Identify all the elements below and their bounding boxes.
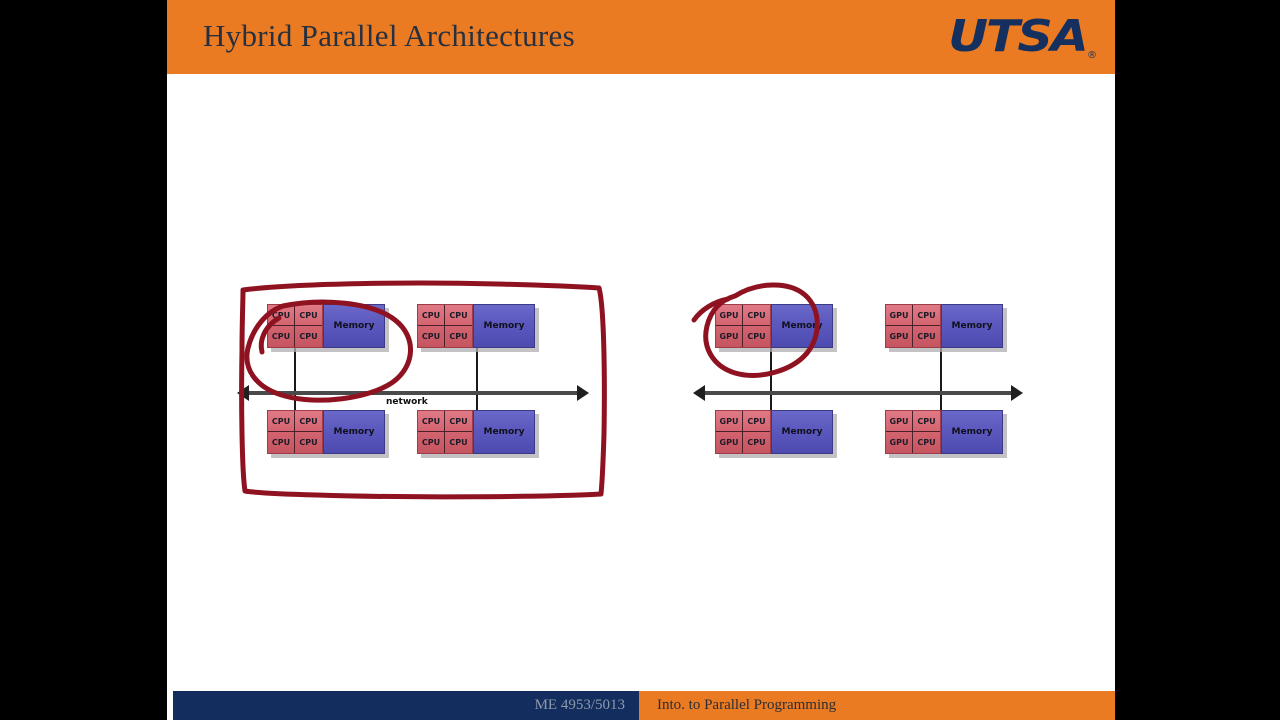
screen: Hybrid Parallel Architectures UTSA ® net… — [0, 0, 1280, 720]
gpu-cluster-diagram: GPU CPU GPU CPU Memory GPU CPU — [695, 304, 1055, 454]
gpu-quad: GPU CPU GPU CPU — [715, 410, 771, 454]
core-cell: GPU — [886, 305, 913, 326]
cpu-node-top-left: CPU CPU CPU CPU Memory — [267, 304, 385, 348]
gpu-quad: GPU CPU GPU CPU — [885, 410, 941, 454]
letterbox-left — [0, 0, 167, 720]
letterbox-right — [1115, 0, 1280, 720]
page-title: Hybrid Parallel Architectures — [203, 14, 575, 58]
memory-block: Memory — [323, 410, 385, 454]
memory-block: Memory — [323, 304, 385, 348]
core-cell: CPU — [743, 326, 770, 347]
gpu-network-bus — [705, 391, 1013, 395]
core-cell: CPU — [295, 305, 322, 326]
core-cell: CPU — [418, 326, 445, 347]
core-cell: CPU — [743, 411, 770, 432]
registered-trademark-icon: ® — [1087, 50, 1097, 61]
core-cell: CPU — [913, 432, 940, 453]
core-cell: CPU — [743, 305, 770, 326]
cpu-network-bus — [249, 391, 579, 395]
memory-block: Memory — [473, 410, 535, 454]
memory-block: Memory — [941, 304, 1003, 348]
core-cell: GPU — [886, 326, 913, 347]
core-cell: CPU — [295, 411, 322, 432]
gpu-bus-arrow-right-icon — [1011, 385, 1023, 401]
memory-block: Memory — [771, 304, 833, 348]
cpu-quad: CPU CPU CPU CPU — [267, 304, 323, 348]
core-cell: CPU — [268, 432, 295, 453]
core-cell: GPU — [716, 432, 743, 453]
core-cell: CPU — [268, 305, 295, 326]
core-cell: CPU — [445, 411, 472, 432]
core-cell: CPU — [445, 305, 472, 326]
footer-course-title: Into. to Parallel Programming — [639, 691, 1115, 720]
core-cell: GPU — [716, 305, 743, 326]
slide-header: Hybrid Parallel Architectures UTSA ® — [167, 0, 1115, 74]
utsa-wordmark: UTSA — [948, 15, 1086, 59]
core-cell: CPU — [295, 432, 322, 453]
core-cell: CPU — [743, 432, 770, 453]
footer-orange-bar: Into. to Parallel Programming — [639, 691, 1115, 720]
gpu-node-top-left: GPU CPU GPU CPU Memory — [715, 304, 833, 348]
core-cell: CPU — [418, 305, 445, 326]
core-cell: GPU — [716, 326, 743, 347]
core-cell: CPU — [913, 411, 940, 432]
core-cell: CPU — [268, 411, 295, 432]
core-cell: CPU — [418, 411, 445, 432]
memory-block: Memory — [941, 410, 1003, 454]
cpu-node-bottom-left: CPU CPU CPU CPU Memory — [267, 410, 385, 454]
core-cell: CPU — [913, 326, 940, 347]
slide: Hybrid Parallel Architectures UTSA ® net… — [167, 0, 1115, 720]
cpu-node-top-right: CPU CPU CPU CPU Memory — [417, 304, 535, 348]
slide-footer: ME 4953/5013 Into. to Parallel Programmi… — [167, 691, 1115, 720]
slide-body: network CPU CPU CPU CPU Memory — [167, 74, 1115, 691]
cpu-quad: CPU CPU CPU CPU — [417, 410, 473, 454]
cpu-cluster-diagram: network CPU CPU CPU CPU Memory — [239, 304, 599, 454]
utsa-logo: UTSA ® — [949, 9, 1097, 65]
cpu-node-bottom-right: CPU CPU CPU CPU Memory — [417, 410, 535, 454]
gpu-quad: GPU CPU GPU CPU — [715, 304, 771, 348]
footer-course-code: ME 4953/5013 — [173, 691, 639, 720]
cpu-bus-arrow-right-icon — [577, 385, 589, 401]
cpu-quad: CPU CPU CPU CPU — [417, 304, 473, 348]
memory-block: Memory — [771, 410, 833, 454]
gpu-quad: GPU CPU GPU CPU — [885, 304, 941, 348]
footer-navy-bar: ME 4953/5013 — [173, 691, 639, 720]
core-cell: GPU — [716, 411, 743, 432]
core-cell: GPU — [886, 411, 913, 432]
gpu-bus-arrow-left-icon — [693, 385, 705, 401]
gpu-node-top-right: GPU CPU GPU CPU Memory — [885, 304, 1003, 348]
core-cell: CPU — [913, 305, 940, 326]
core-cell: CPU — [268, 326, 295, 347]
core-cell: CPU — [418, 432, 445, 453]
core-cell: GPU — [886, 432, 913, 453]
cpu-network-label: network — [384, 397, 430, 407]
memory-block: Memory — [473, 304, 535, 348]
gpu-node-bottom-left: GPU CPU GPU CPU Memory — [715, 410, 833, 454]
core-cell: CPU — [445, 432, 472, 453]
core-cell: CPU — [445, 326, 472, 347]
core-cell: CPU — [295, 326, 322, 347]
cpu-bus-arrow-left-icon — [237, 385, 249, 401]
cpu-quad: CPU CPU CPU CPU — [267, 410, 323, 454]
gpu-node-bottom-right: GPU CPU GPU CPU Memory — [885, 410, 1003, 454]
